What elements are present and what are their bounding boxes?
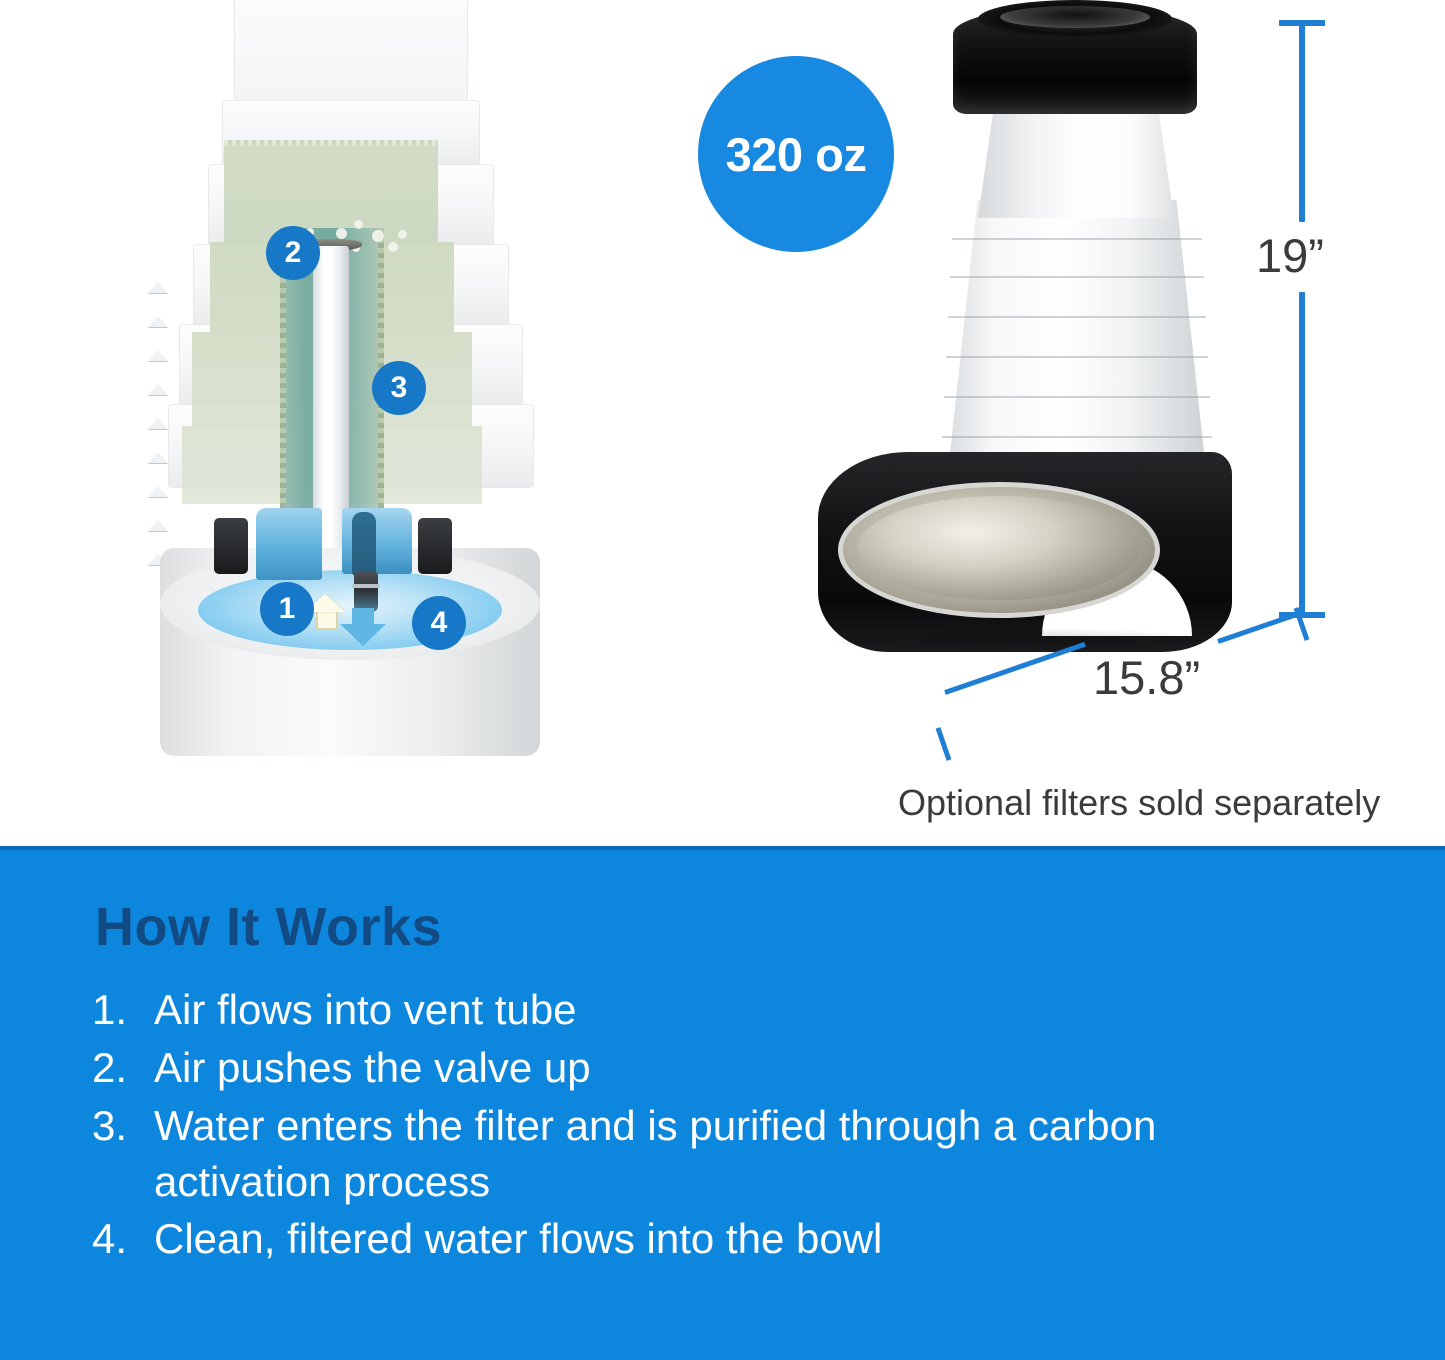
bottle-rib-line (950, 276, 1204, 278)
vent-flow-chevron-icon (148, 418, 168, 429)
air-bubble (388, 242, 398, 252)
illustration-area: 2 3 1 4 320 oz 19” (0, 0, 1445, 846)
callout-badge-2: 2 (266, 226, 320, 280)
cutaway-diagram: 2 3 1 4 (140, 0, 560, 756)
vent-flow-chevron-icon (148, 350, 168, 361)
vent-flow-chevron-icon (148, 282, 168, 293)
air-bubble (336, 228, 347, 239)
water-surface-line (224, 140, 438, 146)
how-it-works-list: 1. Air flows into vent tube 2. Air pushe… (92, 982, 1292, 1269)
height-dimension-line-upper (1299, 22, 1305, 222)
bottle-rib-line (944, 396, 1210, 398)
callout-badge-3: 3 (372, 361, 426, 415)
spout-ring (352, 584, 380, 588)
water-spout (354, 572, 378, 612)
air-bubble (354, 220, 363, 229)
list-item-text: Clean, filtered water flows into the bow… (154, 1211, 1214, 1267)
list-item-number: 3. (92, 1098, 154, 1154)
width-dimension-label: 15.8” (1093, 650, 1200, 705)
filter-clip (214, 518, 248, 574)
list-item-number: 1. (92, 982, 154, 1038)
stainless-bowl-interior (858, 496, 1140, 600)
list-item-number: 4. (92, 1211, 154, 1267)
vent-flow-chevron-icon (148, 384, 168, 395)
jug-rib (234, 0, 468, 106)
list-item-text: Air pushes the valve up (154, 1040, 1214, 1096)
bottle-rib-line (952, 238, 1202, 240)
list-item-text: Water enters the filter and is purified … (154, 1098, 1214, 1210)
list-item: 2. Air pushes the valve up (92, 1040, 1292, 1096)
product-photo (800, 0, 1260, 700)
valve-hook (352, 512, 376, 576)
list-item: 4. Clean, filtered water flows into the … (92, 1211, 1292, 1267)
optional-filters-note: Optional filters sold separately (898, 782, 1380, 824)
bottle-rib-line (942, 436, 1212, 438)
vent-flow-chevron-icon (148, 486, 168, 497)
width-dimension-cap-left (936, 727, 952, 761)
list-item-number: 2. (92, 1040, 154, 1096)
bottle-neck (978, 108, 1174, 218)
bottle-cap-opening (1000, 6, 1150, 28)
bottle-rib-line (946, 356, 1208, 358)
vent-flow-chevron-icon (148, 520, 168, 531)
air-bubble (372, 230, 384, 242)
bottle-rib-line (948, 316, 1206, 318)
valve-housing (256, 508, 322, 580)
height-dimension-line-lower (1299, 292, 1305, 618)
list-item: 3. Water enters the filter and is purifi… (92, 1098, 1292, 1210)
filter-clip (418, 518, 452, 574)
how-it-works-title: How It Works (95, 896, 442, 958)
list-item: 1. Air flows into vent tube (92, 982, 1292, 1038)
air-bubble (398, 230, 407, 239)
height-dimension-label: 19” (1256, 228, 1324, 283)
vent-flow-chevron-icon (148, 316, 168, 327)
bottle-body (946, 200, 1208, 490)
vent-flow-chevron-icon (148, 452, 168, 463)
how-it-works-panel: How It Works 1. Air flows into vent tube… (0, 846, 1445, 1360)
product-infographic: 2 3 1 4 320 oz 19” (0, 0, 1445, 1360)
callout-badge-4: 4 (412, 596, 466, 650)
callout-badge-1: 1 (260, 582, 314, 636)
list-item-text: Air flows into vent tube (154, 982, 1214, 1038)
